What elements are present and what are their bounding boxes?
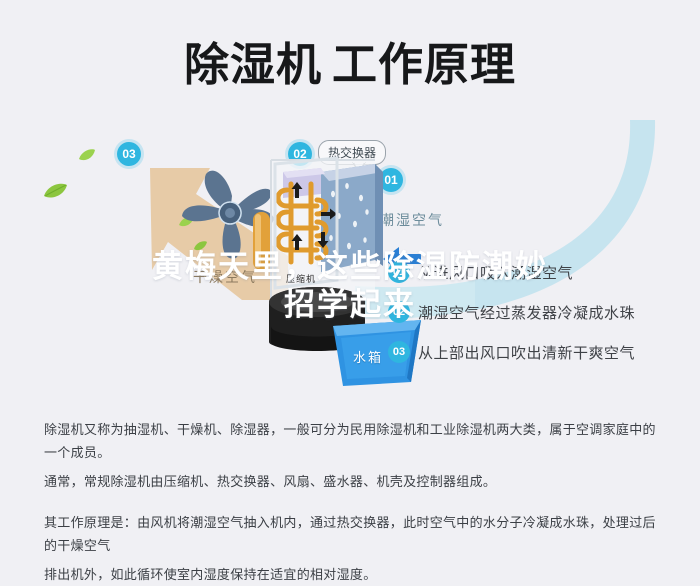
leaf-icon <box>42 182 68 200</box>
paragraph-4: 排出机外，如此循环使室内湿度保持在适宜的相对湿度。 <box>44 563 660 586</box>
screenshot-root: 除湿机工作原理 干燥空气 03 <box>0 0 700 566</box>
paragraph-3: 其工作原理是：由风机将潮湿空气抽入机内，通过热交换器，此时空气中的水分子冷凝成水… <box>44 511 660 557</box>
list-item: 01 从进风口吸入潮湿空气 <box>388 252 678 292</box>
list-item: 02 潮湿空气经过蒸发器冷凝成水珠 <box>388 292 678 332</box>
step-text: 潮湿空气经过蒸发器冷凝成水珠 <box>418 302 635 323</box>
page-title-part2: 工作原理 <box>332 39 516 90</box>
compressor-label: 压缩机 <box>286 272 316 285</box>
step-list: 01 从进风口吸入潮湿空气 02 潮湿空气经过蒸发器冷凝成水珠 03 从上部出风… <box>388 252 678 372</box>
step-badge: 03 <box>388 341 410 363</box>
body-copy: 除湿机又称为抽湿机、干燥机、除湿器，一般可分为民用除湿机和工业除湿机两大类，属于… <box>44 418 660 586</box>
page-title: 除湿机工作原理 <box>0 28 700 93</box>
leaf-icon <box>78 148 96 162</box>
water-tank-label: 水箱 <box>353 347 383 366</box>
paragraph-2: 通常，常规除湿机由压缩机、热交换器、风扇、盛水器、机壳及控制器组成。 <box>44 470 660 493</box>
page-title-part1: 除湿机 <box>184 39 322 90</box>
step-badge: 02 <box>388 301 410 323</box>
marker-badge-03: 03 <box>117 142 141 166</box>
list-item: 03 从上部出风口吹出清新干爽空气 <box>388 332 678 372</box>
paragraph-1: 除湿机又称为抽湿机、干燥机、除湿器，一般可分为民用除湿机和工业除湿机两大类，属于… <box>44 418 660 464</box>
step-text: 从进风口吸入潮湿空气 <box>418 262 573 283</box>
step-badge: 01 <box>388 261 410 283</box>
step-text: 从上部出风口吹出清新干爽空气 <box>418 342 635 363</box>
